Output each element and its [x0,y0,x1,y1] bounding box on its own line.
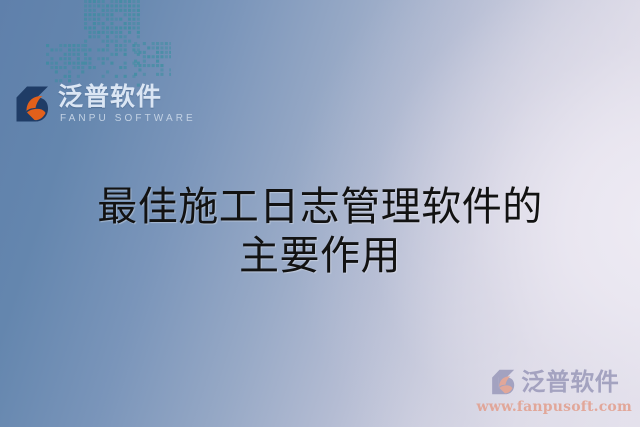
promo-banner: 泛普软件 FANPU SOFTWARE 最佳施工日志管理软件的 主要作用 泛普软… [0,0,640,427]
page-title-line-2: 主要作用 [0,232,640,281]
pixel-skyline-graphic [36,0,171,90]
page-title: 最佳施工日志管理软件的 主要作用 [0,183,640,281]
fanpu-watermark-mark [489,368,517,396]
watermark: 泛普软件 www.fanpusoft.com [476,368,632,415]
logo-name-cn: 泛普软件 [58,84,196,109]
fanpu-logo-mark [12,84,52,124]
watermark-logo-row: 泛普软件 [489,368,619,396]
page-title-line-1: 最佳施工日志管理软件的 [0,183,640,232]
watermark-url: www.fanpusoft.com [476,399,632,415]
watermark-name-cn: 泛普软件 [521,370,619,394]
logo-name-en: FANPU SOFTWARE [60,114,196,124]
fanpu-logo[interactable]: 泛普软件 FANPU SOFTWARE [12,84,196,124]
